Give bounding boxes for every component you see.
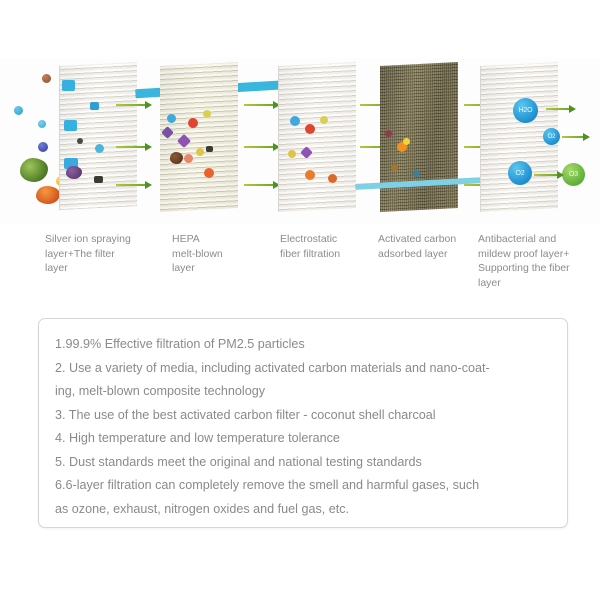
air-arrow	[244, 184, 274, 186]
particle-trapped	[95, 144, 104, 153]
particle-trapped	[196, 148, 204, 156]
layer-panel-electrostatic	[278, 62, 356, 212]
layer-panel-activated-carbon	[380, 62, 458, 212]
particle-trapped	[203, 110, 211, 118]
particle-trapped	[94, 176, 103, 183]
air-arrow	[116, 104, 146, 106]
filter-layers-diagram: H2O O2 O2 O3	[0, 58, 600, 223]
particle-pollen-cluster	[36, 186, 60, 204]
particle-mold-cluster	[20, 158, 48, 182]
molecule-label: O3	[569, 171, 578, 178]
molecule-o2: O2	[508, 161, 532, 185]
particle-trapped	[77, 138, 83, 144]
caption-electrostatic: Electrostatic fiber filtration	[280, 232, 380, 261]
caption-hepa: HEPA melt-blown layer	[172, 232, 282, 276]
air-arrow	[562, 136, 584, 138]
feature-line: 2. Use a variety of media, including act…	[55, 357, 551, 381]
particle-trapped	[188, 118, 198, 128]
layer-panel-hepa	[160, 62, 238, 212]
air-arrow	[116, 146, 146, 148]
particle-trapped	[328, 174, 337, 183]
layer-texture-activated-carbon	[380, 62, 458, 212]
air-arrow	[244, 146, 274, 148]
layer-captions: Silver ion spraying layer+The filter lay…	[0, 232, 600, 302]
caption-activated-carbon: Activated carbon adsorbed layer	[378, 232, 478, 261]
caption-silver-ion: Silver ion spraying layer+The filter lay…	[45, 232, 165, 276]
particle-bacteria	[38, 120, 46, 128]
particle-trapped	[320, 116, 328, 124]
particle-trapped	[90, 102, 99, 110]
molecule-label: O2	[516, 170, 525, 177]
air-arrow	[244, 104, 274, 106]
molecule-label: O2	[548, 134, 556, 140]
air-arrow	[116, 184, 146, 186]
layer-texture-electrostatic	[278, 62, 356, 212]
particle-trapped	[288, 150, 296, 158]
air-arrow	[546, 108, 570, 110]
particle-pollen	[42, 74, 51, 83]
feature-line: 1.99.9% Effective filtration of PM2.5 pa…	[55, 333, 551, 357]
feature-line: 6.6-layer filtration can completely remo…	[55, 474, 551, 498]
particle-dust	[14, 106, 23, 115]
particle-trapped	[204, 168, 214, 178]
particle-trapped	[206, 146, 213, 152]
molecule-o2-small: O2	[543, 128, 560, 145]
particle-trapped	[184, 154, 193, 163]
feature-line: 4. High temperature and low temperature …	[55, 427, 551, 451]
molecule-label: H2O	[519, 107, 533, 114]
air-arrow	[534, 174, 558, 176]
particle-trapped	[290, 116, 300, 126]
particle-trapped	[64, 120, 77, 131]
layer-texture-hepa	[160, 62, 238, 212]
particle-trapped	[62, 80, 75, 91]
product-feature-page: H2O O2 O2 O3 Silver ion spraying layer+T…	[0, 0, 600, 600]
caption-antibacterial: Antibacterial and mildew proof layer+ Su…	[478, 232, 588, 290]
particle-trapped	[167, 114, 176, 123]
particle-trapped	[385, 130, 392, 137]
particle-trapped	[391, 164, 398, 171]
feature-line: as ozone, exhaust, nitrogen oxides and f…	[55, 498, 551, 522]
feature-line: 3. The use of the best activated carbon …	[55, 404, 551, 428]
features-panel: 1.99.9% Effective filtration of PM2.5 pa…	[38, 318, 568, 528]
molecule-h2o: H2O	[513, 98, 538, 123]
particle-virus	[38, 142, 48, 152]
feature-line: ing, melt-blown composite technology	[55, 380, 551, 404]
molecule-o3: O3	[562, 163, 585, 186]
feature-line: 5. Dust standards meet the original and …	[55, 451, 551, 475]
particle-trapped	[305, 124, 315, 134]
particle-trapped	[305, 170, 315, 180]
particle-trapped	[413, 170, 420, 177]
particle-trapped	[403, 138, 410, 145]
